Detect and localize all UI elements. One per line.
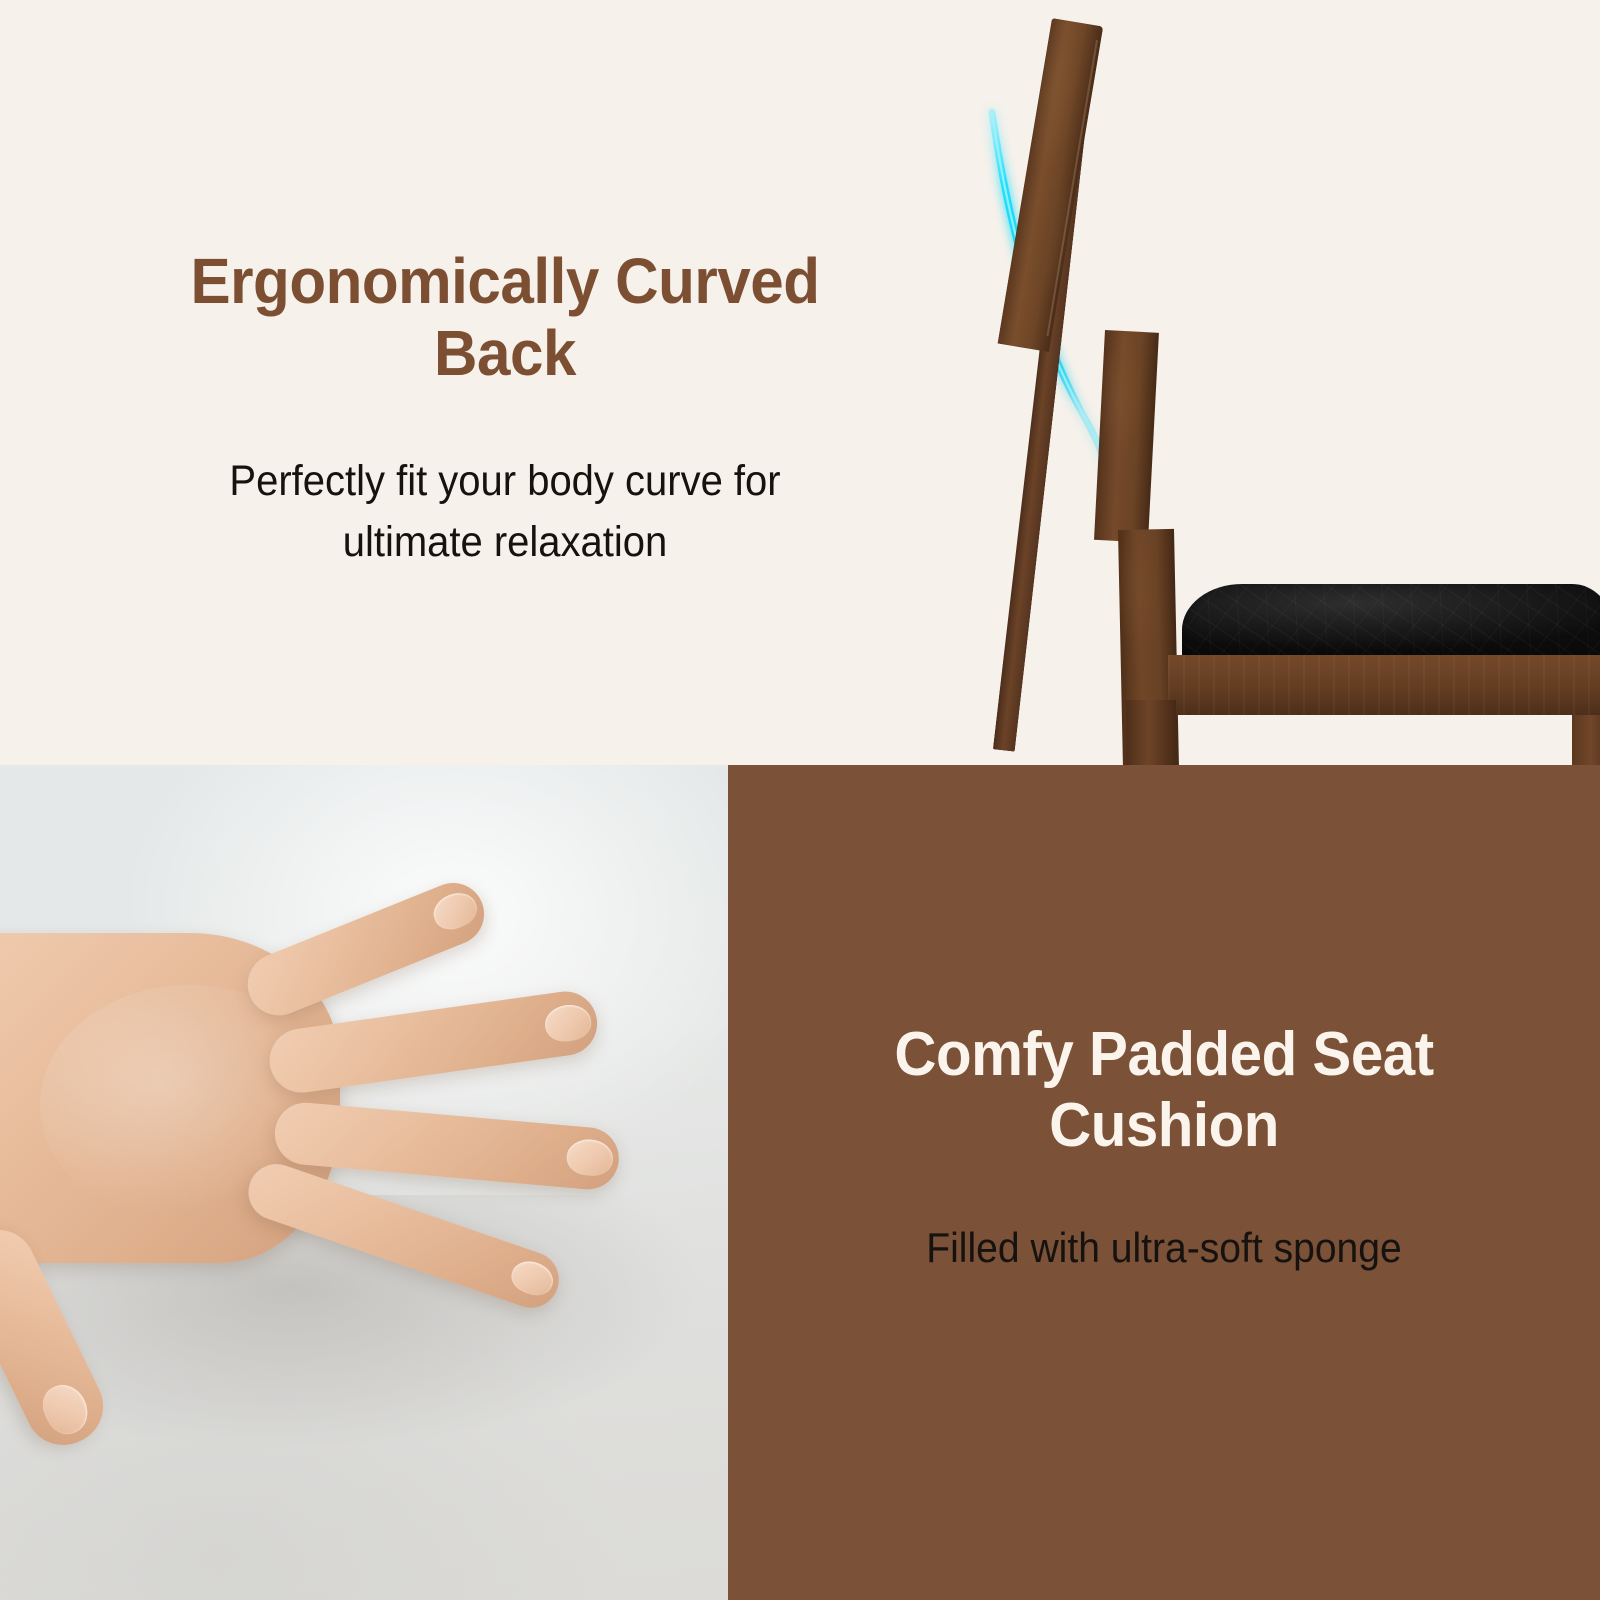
- fingernail: [507, 1256, 557, 1300]
- top-headline-line2: Back: [434, 317, 576, 389]
- chair-product-photo: [960, 0, 1600, 765]
- fingernail: [428, 887, 482, 935]
- top-feature-panel: Ergonomically Curved Back Perfectly fit …: [0, 0, 1600, 765]
- top-subtitle-line2: ultimate relaxation: [343, 518, 668, 566]
- product-feature-infographic: Ergonomically Curved Back Perfectly fit …: [0, 0, 1600, 1600]
- chair-seat-apron: [1168, 655, 1600, 715]
- top-subtitle: Perfectly fit your body curve for ultima…: [35, 389, 974, 571]
- chair-back-stile-upper: [998, 18, 1104, 352]
- foam-press-photo: [0, 765, 728, 1600]
- seat-leather-texture: [1182, 584, 1600, 662]
- hand-finger-index: [238, 874, 493, 1025]
- bottom-headline-line1: Comfy Padded Seat: [894, 1020, 1433, 1089]
- top-headline: Ergonomically Curved Back: [30, 246, 979, 389]
- top-text-block: Ergonomically Curved Back Perfectly fit …: [0, 246, 1010, 572]
- bottom-headline-line2: Cushion: [1049, 1091, 1279, 1160]
- bottom-subtitle: Filled with ultra-soft sponge: [759, 1161, 1570, 1278]
- bottom-feature-panel: Comfy Padded Seat Cushion Filled with ul…: [728, 765, 1600, 1600]
- bottom-headline: Comfy Padded Seat Cushion: [754, 1020, 1574, 1161]
- hand: [0, 815, 680, 1455]
- top-subtitle-line1: Perfectly fit your body curve for: [229, 457, 780, 505]
- bottom-text-block: Comfy Padded Seat Cushion Filled with ul…: [728, 1020, 1600, 1278]
- chair-seat-cushion: [1182, 584, 1600, 662]
- top-headline-line1: Ergonomically Curved: [190, 245, 819, 317]
- fingernail: [543, 1002, 594, 1044]
- fingernail: [565, 1138, 614, 1178]
- chair-rear-leg: [1126, 700, 1176, 765]
- chair-front-leg: [1572, 715, 1600, 765]
- fingernail: [36, 1378, 96, 1441]
- chair-back-stile-middle: [1094, 330, 1159, 543]
